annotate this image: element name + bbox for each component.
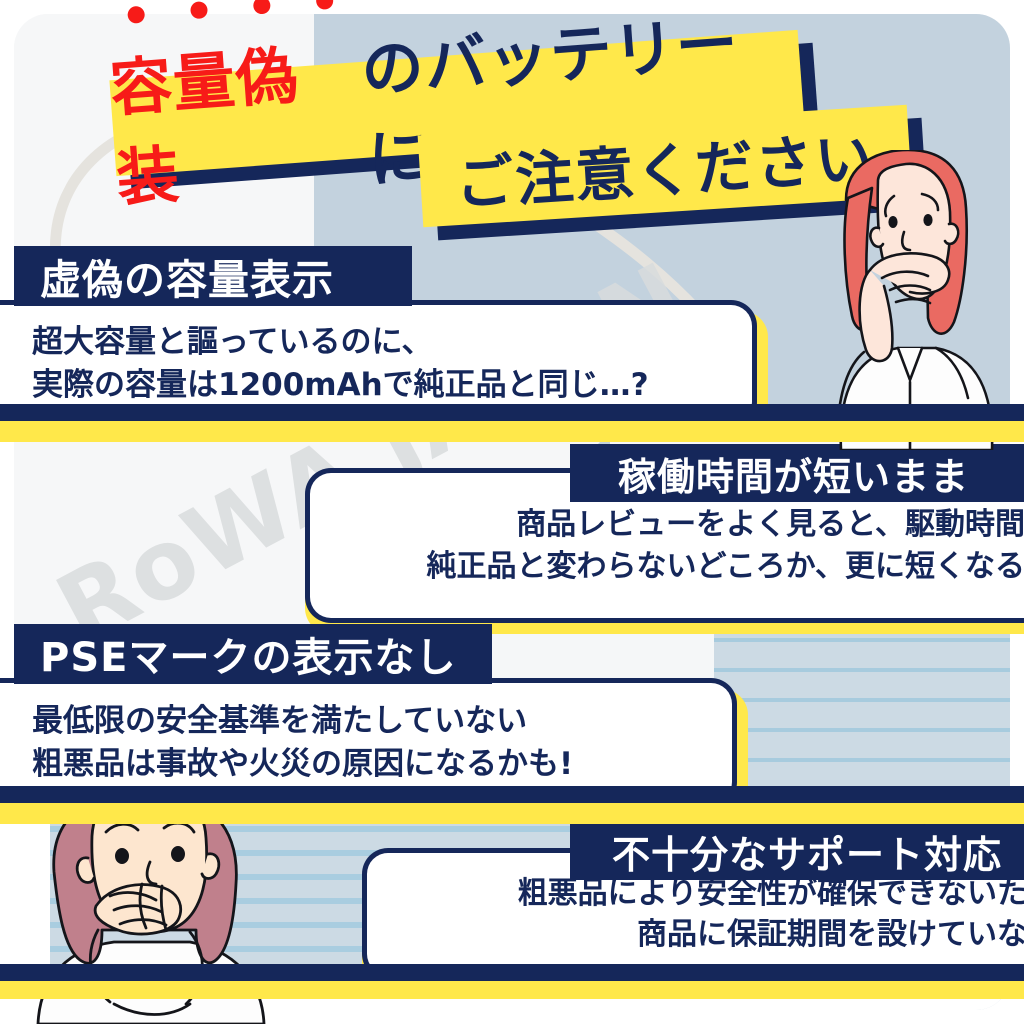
block-body-line: 商品に保証期間を設けていない [637, 914, 1024, 955]
block-body-line: 商品レビューをよく見ると、駆動時間が [516, 504, 1024, 545]
divider-navy-2 [0, 786, 1024, 803]
block-body-line: 最低限の安全基準を満たしていない [32, 700, 732, 743]
block-body-line: 実際の容量は1200mAhで純正品と同じ…? [32, 364, 752, 407]
heading-text: PSEマークの表示なし [40, 625, 456, 683]
heading-text: 不十分なサポート対応 [612, 824, 1002, 879]
divider-navy-3 [0, 964, 1024, 981]
divider-yellow-1 [0, 421, 1024, 442]
title-highlight-text: 容量偽装 [107, 39, 301, 215]
block-no-pse-mark-heading: PSEマークの表示なし [14, 624, 492, 684]
heading-text: 稼働時間が短いまま [618, 446, 969, 501]
divider-navy-1 [0, 404, 1024, 421]
divider-yellow-3 [0, 981, 1024, 999]
block-body-line: 超大容量と謳っているのに、 [32, 321, 752, 364]
block-poor-support-heading: 不十分なサポート対応 [570, 822, 1024, 880]
title-highlight-wrapper: 容量偽装 [106, 20, 371, 218]
heading-text: 虚偽の容量表示 [40, 246, 334, 306]
block-false-capacity-heading: 虚偽の容量表示 [14, 246, 412, 306]
block-body-line: 純正品と変わらないどころか、更に短くなる… [427, 546, 1024, 587]
poster-canvas: RoWA JAPAN 容量偽装 のバッテリーに ご注意ください [0, 0, 1024, 1024]
divider-yellow-2 [0, 803, 1024, 824]
block-short-runtime-heading: 稼働時間が短いまま [570, 444, 1024, 502]
